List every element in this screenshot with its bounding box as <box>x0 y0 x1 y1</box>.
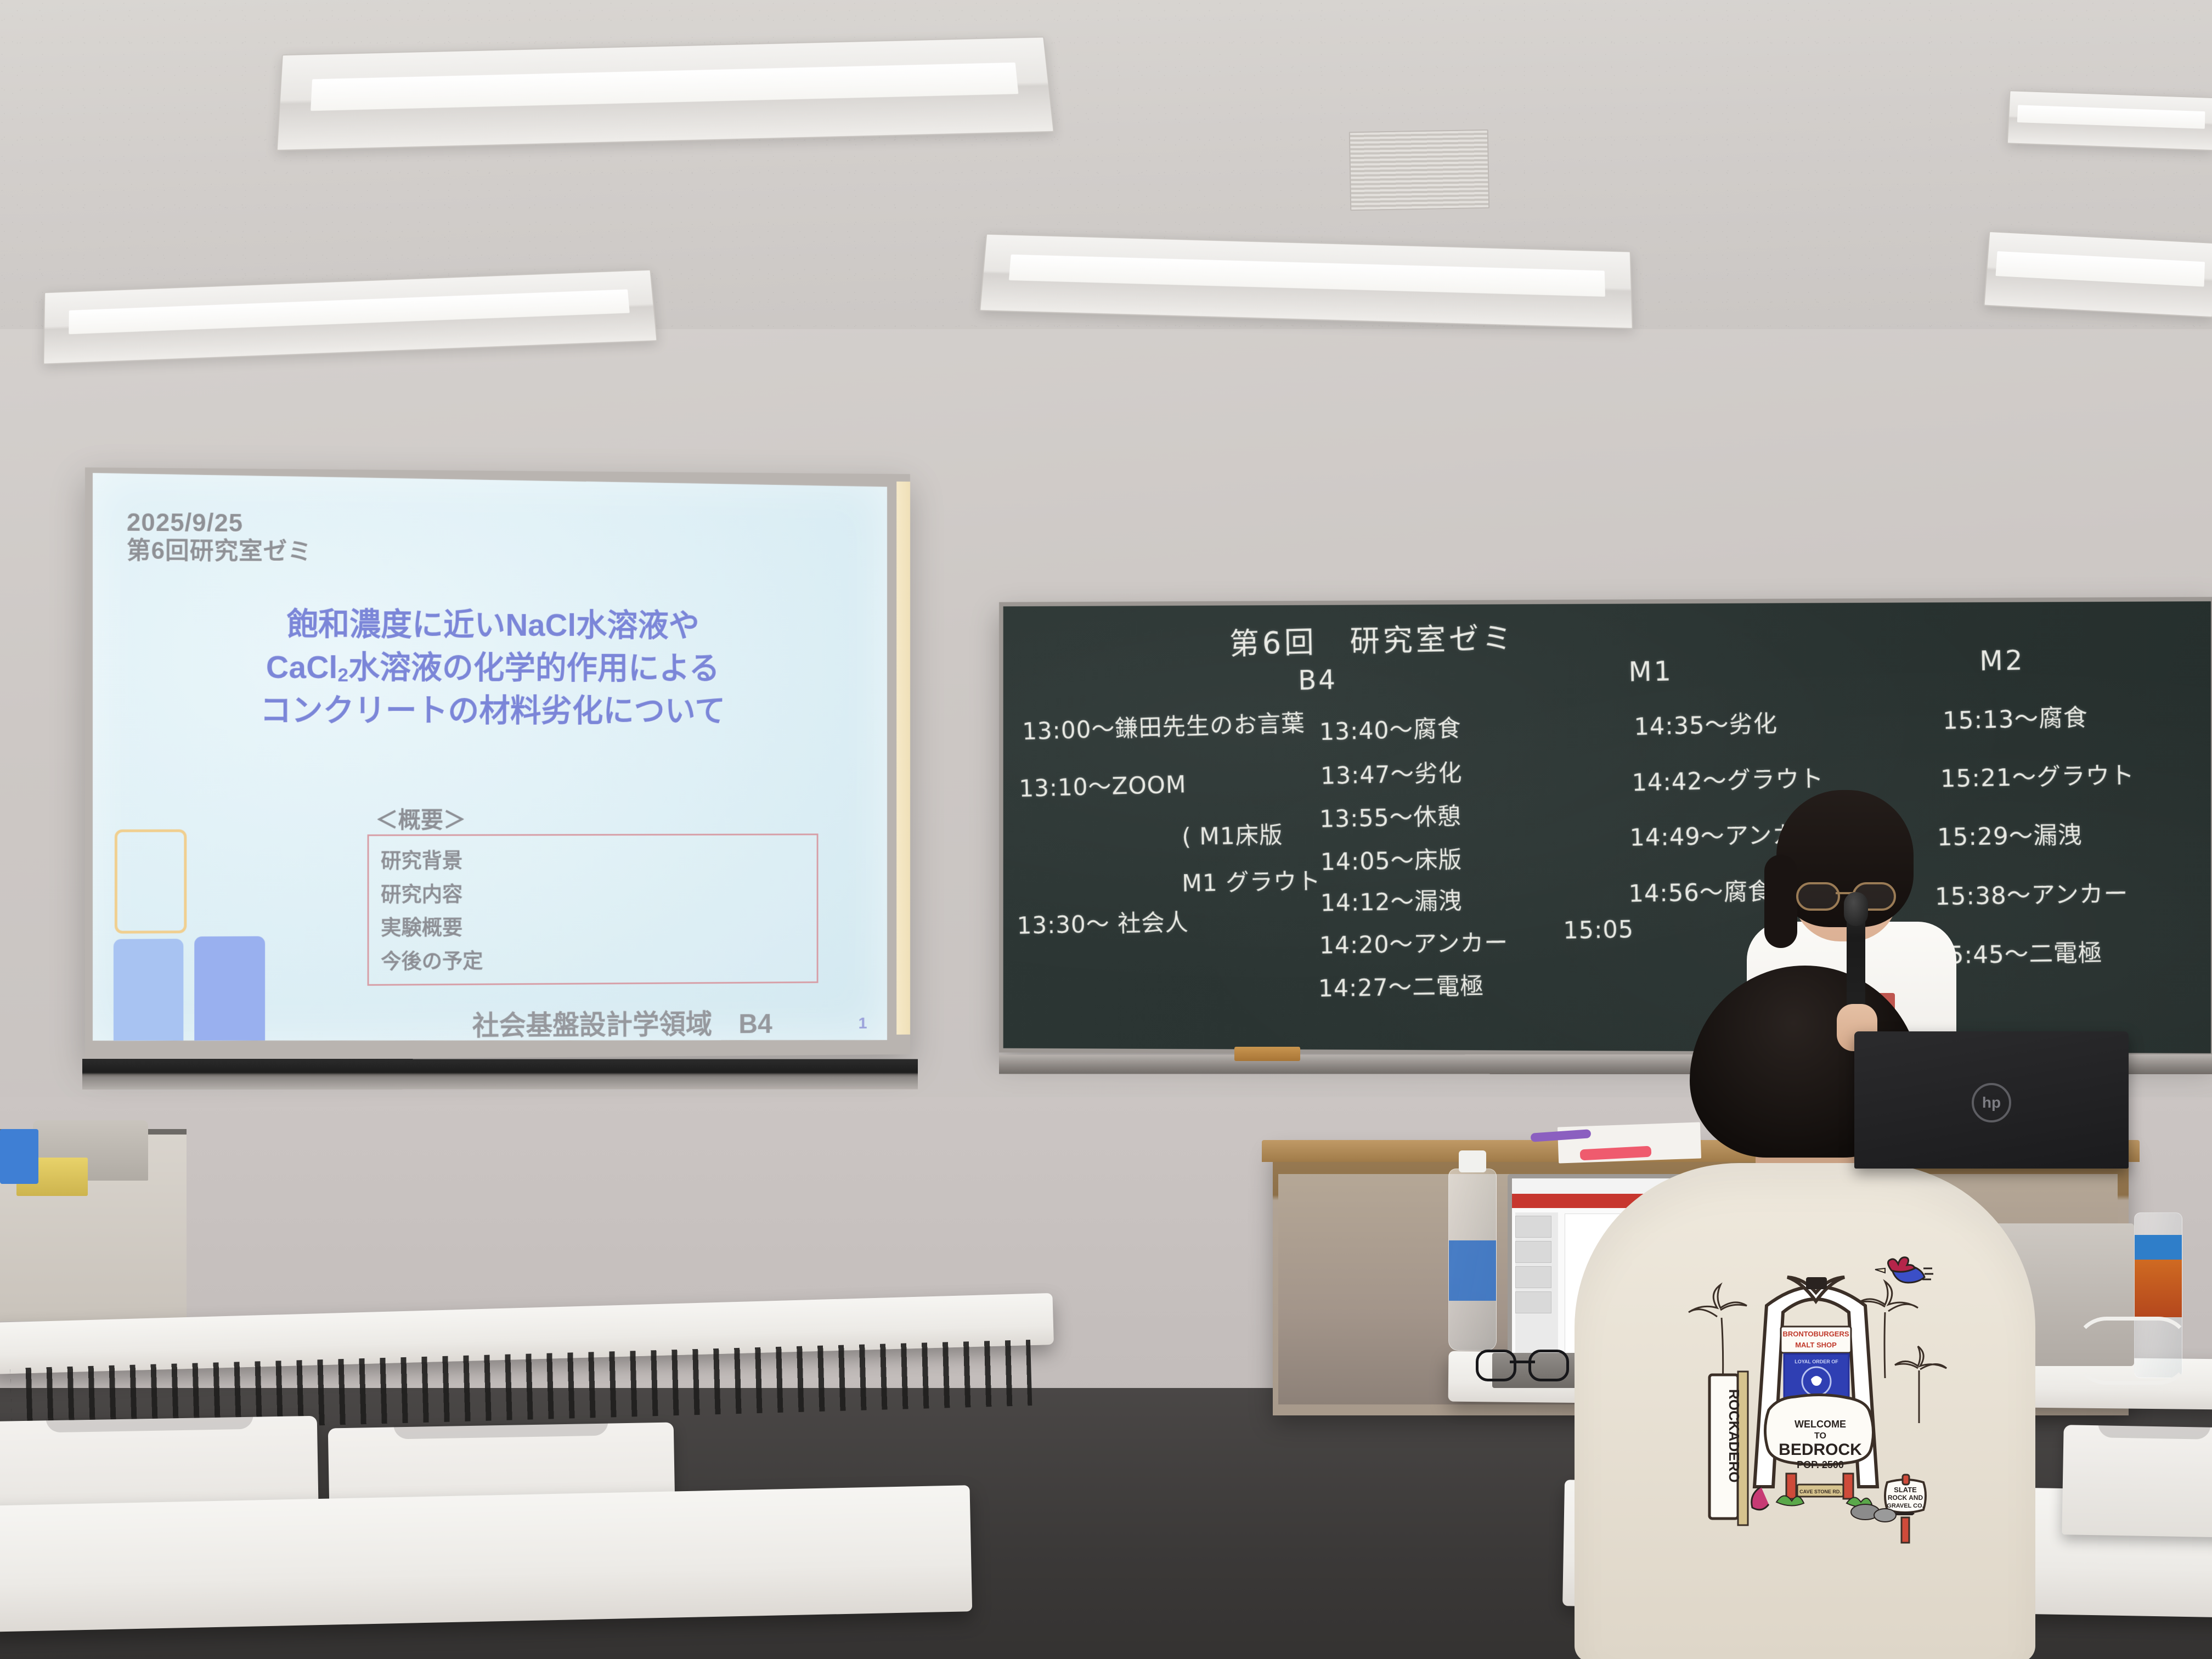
blackboard-row: ( M1床版 <box>1182 816 1283 852</box>
svg-text:SLATE: SLATE <box>1894 1486 1917 1494</box>
slide-decoration-square <box>115 830 187 934</box>
slide-title-line-2-b: 水溶液の化学的作用による <box>348 650 720 686</box>
outline-box: 研究背景 研究内容 実験概要 今後の予定 <box>368 833 819 985</box>
svg-text:WELCOME: WELCOME <box>1795 1419 1846 1430</box>
bottle-cap <box>1459 1150 1486 1172</box>
outline-item: 研究内容 <box>381 878 483 912</box>
blackboard-row: 13:47〜劣化 <box>1320 753 1463 791</box>
svg-text:CAVE STONE RD.: CAVE STONE RD. <box>1799 1489 1841 1494</box>
white-cable <box>2074 1317 2191 1385</box>
slide-decoration-square <box>114 939 183 1046</box>
ceiling-light-1 <box>276 36 1054 151</box>
hp-laptop[interactable]: hp <box>1854 1031 2129 1169</box>
svg-text:ROCKADERO: ROCKADERO <box>1726 1389 1742 1482</box>
slide-date-block: 2025/9/25 第6回研究室ゼミ <box>127 507 312 567</box>
outline-list: 研究背景 研究内容 実験概要 今後の予定 <box>381 844 483 979</box>
water-bottle <box>1448 1169 1497 1351</box>
svg-text:TO: TO <box>1814 1431 1826 1441</box>
light-tube <box>1009 255 1605 297</box>
svg-text:ROCK AND: ROCK AND <box>1888 1494 1923 1502</box>
screen-bottom-rail <box>82 1059 918 1090</box>
blackboard-row: 13:55〜休憩 <box>1319 797 1462 834</box>
svg-text:POP. 2500: POP. 2500 <box>1797 1459 1844 1470</box>
blackboard-row: 13:30〜 社会人 <box>1017 903 1189 941</box>
slide-title-line-2: CaCl2水溶液の化学的作用による <box>93 646 887 691</box>
blackboard-column-head-m1: M1 <box>1628 655 1673 687</box>
projection-screen-housing: 2025/9/25 第6回研究室ゼミ 飽和濃度に近いNaCl水溶液や CaCl2… <box>85 467 910 1061</box>
slide-thumbnail[interactable] <box>1515 1216 1551 1238</box>
slide-thumbnail[interactable] <box>1515 1291 1551 1313</box>
light-tube <box>69 289 630 334</box>
slide-date: 2025/9/25 <box>127 507 312 538</box>
chalk-block-icon <box>1234 1047 1300 1061</box>
svg-text:BEDROCK: BEDROCK <box>1779 1441 1862 1459</box>
outline-item: 研究背景 <box>381 844 483 878</box>
blackboard-row: 13:40〜腐食 <box>1319 709 1462 747</box>
svg-text:BRONTOBURGERS: BRONTOBURGERS <box>1782 1330 1849 1338</box>
blackboard-row-stray-time: 15:05 <box>1563 916 1634 944</box>
ceiling-light-5 <box>2007 90 2212 151</box>
tshirt-graphic: BRONTOBURGERS MALT SHOP LOYAL ORDER OF W… <box>1684 1245 1948 1553</box>
glasses-lens-right <box>1528 1350 1569 1381</box>
slide-page-number: 1 <box>859 1014 867 1032</box>
slide-presenter-name: 三宅夏美 <box>472 1041 866 1046</box>
light-tube <box>311 62 1018 111</box>
projected-slide: 2025/9/25 第6回研究室ゼミ 飽和濃度に近いNaCl水溶液や CaCl2… <box>93 473 887 1046</box>
blackboard-row: 14:20〜アンカー <box>1319 923 1508 961</box>
blackboard-row: 14:35〜劣化 <box>1634 704 1778 742</box>
blackboard-title: 第6回 研究室ゼミ <box>1229 613 1515 663</box>
slide-title-line-1: 飽和濃度に近いNaCl水溶液や <box>93 602 887 648</box>
blackboard-row: 13:00〜鎌田先生のお言葉 <box>1022 703 1305 746</box>
eyeglasses-on-desk <box>1476 1350 1569 1383</box>
blackboard-row: 14:05〜床版 <box>1320 840 1463 877</box>
slide-decoration-square <box>194 936 265 1046</box>
classroom-photo: 2025/9/25 第6回研究室ゼミ 飽和濃度に近いNaCl水溶液や CaCl2… <box>0 0 2212 1659</box>
classroom-chair[interactable] <box>2062 1425 2212 1538</box>
blackboard-row: 15:21〜グラウト <box>1940 755 2135 794</box>
slide-title-line-3: コンクリートの材料劣化について <box>93 689 887 733</box>
svg-text:GRAVEL CO.: GRAVEL CO. <box>1887 1503 1923 1509</box>
slide-author-block: 社会基盤設計学領域 B4 三宅夏美 <box>472 1005 866 1046</box>
outline-item: 実験概要 <box>381 911 483 945</box>
slide-right-edge <box>896 482 910 1035</box>
blackboard-row: 14:12〜漏洩 <box>1320 881 1463 918</box>
bottle-label <box>1449 1240 1496 1301</box>
svg-text:MALT SHOP: MALT SHOP <box>1795 1341 1837 1349</box>
light-tube <box>1996 251 2205 287</box>
slide-title-line-2-a: CaCl <box>266 650 337 685</box>
ceiling-light-4 <box>1983 231 2212 318</box>
slide-session: 第6回研究室ゼミ <box>127 537 312 567</box>
classroom-desk <box>0 1485 972 1632</box>
air-vent-icon <box>1349 129 1489 211</box>
blackboard-column-head-b4: B4 <box>1298 664 1338 696</box>
tea-bottle-label <box>2135 1235 2182 1317</box>
blackboard-row: 15:13〜腐食 <box>1942 698 2088 736</box>
slide-thumbnail[interactable] <box>1515 1266 1551 1288</box>
light-tube <box>2017 105 2205 129</box>
hp-logo-icon: hp <box>1972 1083 2011 1122</box>
slide-thumbnail[interactable] <box>1515 1241 1551 1263</box>
blackboard-row: M1 グラウト <box>1182 862 1321 899</box>
slide-title-subscript: 2 <box>337 663 348 686</box>
glasses-lens-left <box>1796 882 1840 911</box>
blackboard-row: 14:27〜二電極 <box>1318 967 1484 1003</box>
blackboard-column-head-m2: M2 <box>1979 644 2025 676</box>
svg-text:LOYAL ORDER OF: LOYAL ORDER OF <box>1795 1359 1838 1364</box>
outline-item: 今後の予定 <box>381 945 483 979</box>
slide-title: 飽和濃度に近いNaCl水溶液や CaCl2水溶液の化学的作用による コンクリート… <box>93 602 887 733</box>
outline-heading: ＜概要＞ <box>375 802 466 835</box>
blue-bag <box>0 1129 38 1184</box>
slide-affiliation: 社会基盤設計学領域 B4 <box>472 1005 866 1043</box>
glasses-lens-left <box>1476 1350 1516 1381</box>
blackboard-row: 13:10〜ZOOM <box>1019 765 1187 804</box>
